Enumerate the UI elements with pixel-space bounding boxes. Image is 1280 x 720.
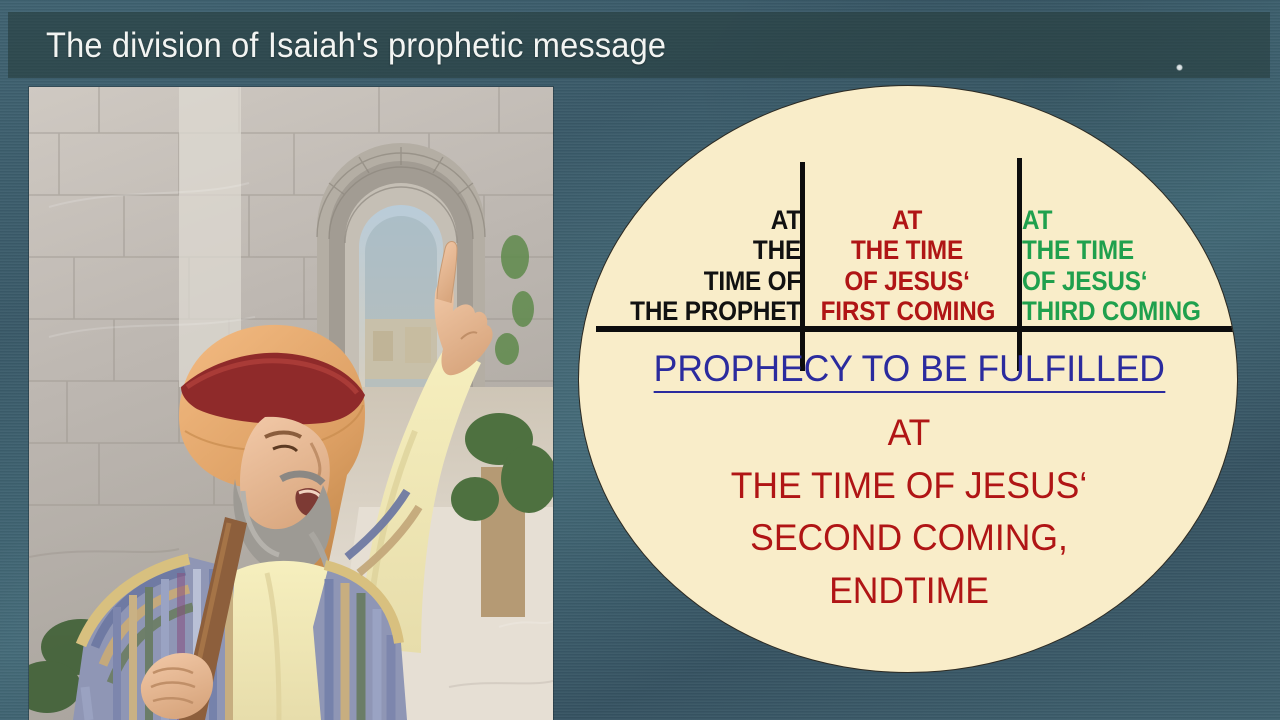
column-prophet-line-3: TIME OF [628,266,801,296]
column-prophet-line-2: THE [628,235,801,265]
column-first-line-1: AT [821,205,994,235]
page-title: The division of Isaiah's prophetic messa… [46,26,666,66]
column-divider-1 [800,162,805,371]
conclusion-line-3: SECOND COMING, [592,512,1226,565]
column-first-line-4: FIRST COMING [821,296,994,326]
conclusion-line-4: ENDTIME [592,565,1226,618]
conclusion-line-1: AT [592,407,1226,460]
column-third-line-2: THE TIME [1022,235,1202,265]
conclusion-lines: AT THE TIME OF JESUS‘ SECOND COMING, END… [592,407,1226,617]
column-third-line-3: OF JESUS‘ [1022,266,1202,296]
prophecy-heading: PROPHECY TO BE FULFILLED [653,348,1164,393]
conclusion-block: PROPHECY TO BE FULFILLED AT THE TIME OF … [579,348,1238,617]
column-third-coming: AT THE TIME OF JESUS‘ THIRD COMING [1022,205,1202,326]
timeline-columns: AT THE TIME OF THE PROPHET AT THE TIME O… [579,132,1238,326]
horizontal-separator-rule [596,326,1238,332]
column-first-coming: AT THE TIME OF JESUS‘ FIRST COMING [821,205,994,326]
column-prophet-line-1: AT [628,205,801,235]
conclusion-line-2: THE TIME OF JESUS‘ [592,460,1226,513]
column-first-line-2: THE TIME [821,235,994,265]
slide-canvas: The division of Isaiah's prophetic messa… [0,0,1280,720]
prophet-illustration-art [29,87,553,720]
title-band: The division of Isaiah's prophetic messa… [8,12,1270,78]
column-third-line-4: THIRD COMING [1022,296,1202,326]
column-first-line-3: OF JESUS‘ [821,266,994,296]
column-prophet-line-4: THE PROPHET [628,296,801,326]
column-time-of-prophet: AT THE TIME OF THE PROPHET [628,205,801,326]
prophet-illustration [29,87,553,720]
prophecy-circle-diagram: AT THE TIME OF THE PROPHET AT THE TIME O… [578,85,1238,673]
column-third-line-1: AT [1022,205,1202,235]
sparkle-speck-icon [1176,64,1183,71]
